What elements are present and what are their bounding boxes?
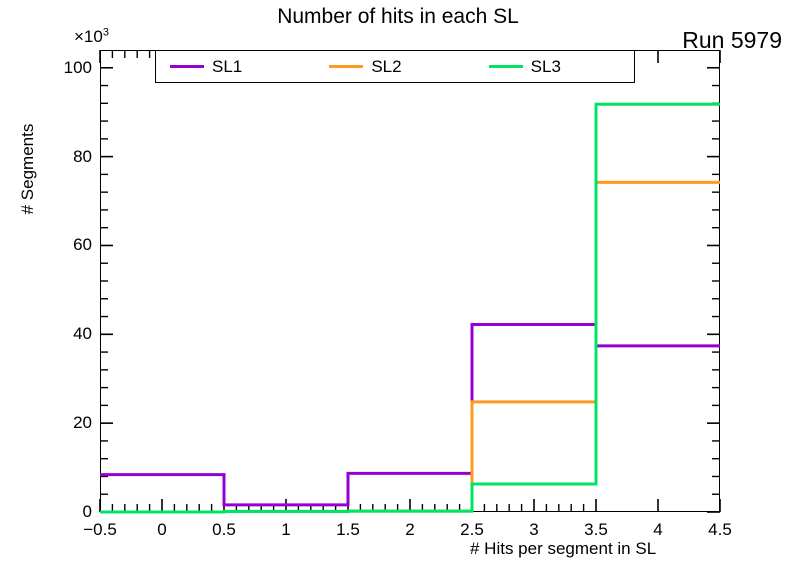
plot-area	[0, 0, 796, 572]
x-tick-label: 1.5	[336, 521, 360, 538]
legend-label: SL1	[212, 58, 242, 76]
legend-swatch-icon	[489, 65, 523, 68]
x-tick-label: 0	[157, 521, 166, 538]
x-tick-label: 3	[529, 521, 538, 538]
legend: SL1SL2SL3	[155, 50, 635, 83]
x-tick-label: 4	[653, 521, 662, 538]
series-sl1	[100, 325, 720, 505]
x-tick-label: 3.5	[584, 521, 608, 538]
y-tick-label: 0	[36, 503, 92, 520]
y-axis-ticks	[100, 68, 720, 512]
x-tick-label: −0.5	[83, 521, 117, 538]
legend-label: SL2	[371, 58, 401, 76]
x-tick-label: 2	[405, 521, 414, 538]
x-tick-label: 2.5	[460, 521, 484, 538]
histogram-series	[100, 104, 720, 512]
y-tick-label: 80	[36, 148, 92, 165]
x-tick-label: 1	[281, 521, 290, 538]
y-tick-label: 40	[36, 325, 92, 342]
legend-entry-sl3[interactable]: SL3	[475, 58, 634, 76]
root-canvas: Number of hits in each SL Run 5979 ×103 …	[0, 0, 796, 572]
y-tick-label: 100	[36, 59, 92, 76]
legend-swatch-icon	[170, 65, 204, 68]
legend-swatch-icon	[329, 65, 363, 68]
legend-entry-sl2[interactable]: SL2	[315, 58, 474, 76]
legend-entry-sl1[interactable]: SL1	[156, 58, 315, 76]
legend-label: SL3	[531, 58, 561, 76]
series-sl3	[100, 104, 720, 512]
x-tick-label: 0.5	[212, 521, 236, 538]
y-tick-label: 20	[36, 414, 92, 431]
y-tick-label: 60	[36, 236, 92, 253]
x-axis-ticks	[100, 50, 720, 512]
x-tick-label: 4.5	[708, 521, 732, 538]
